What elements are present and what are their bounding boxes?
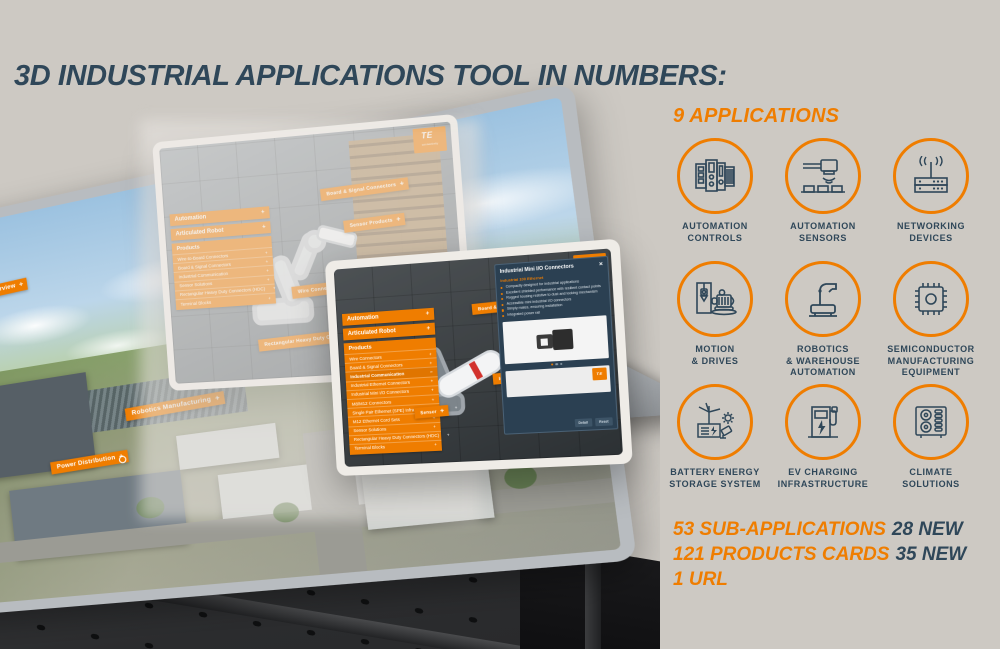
tablet-product-detail: TE connectivity Automation+ Articulated … bbox=[325, 239, 633, 477]
app-robotics-warehouse[interactable]: ROBOTICS & WAREHOUSE AUTOMATION bbox=[771, 261, 875, 380]
product-image-secondary: TE bbox=[506, 365, 611, 397]
stat-row: 121 PRODUCTS CARDS35 NEW bbox=[673, 542, 1000, 567]
stat-new: 28 NEW bbox=[892, 519, 963, 540]
tablet-products-menu[interactable]: Products Wire Connectors+ Board & Signal… bbox=[344, 338, 442, 455]
products-menu[interactable]: Products Wire-to-Board Connectors+ Board… bbox=[172, 236, 276, 310]
applications-icon-grid: AUTOMATION CONTROLS AUTOMATION SENSO bbox=[663, 138, 983, 503]
te-logo: TE connectivity bbox=[413, 126, 447, 153]
applications-heading: 9 APPLICATIONS bbox=[673, 105, 1000, 128]
product-panel-actions[interactable]: Detail Reset bbox=[574, 417, 613, 427]
app-label: AUTOMATION SENSORS bbox=[790, 221, 856, 257]
product-photo-scene: Overview Robotics Manufacturing Power Di… bbox=[0, 0, 660, 649]
app-networking-devices[interactable]: NETWORKING DEVICES bbox=[879, 138, 983, 257]
connector-icon bbox=[531, 324, 579, 355]
automation-controls-icon bbox=[693, 156, 737, 196]
app-motion-drives[interactable]: MOTION & DRIVES bbox=[663, 261, 767, 380]
icon-ring bbox=[785, 138, 861, 214]
stat-row: 1 URL bbox=[673, 567, 1000, 592]
stat-new: 35 NEW bbox=[895, 544, 966, 565]
detail-button[interactable]: Detail bbox=[574, 418, 592, 427]
app-label: ROBOTICS & WAREHOUSE AUTOMATION bbox=[786, 344, 860, 380]
automation-sensors-icon bbox=[801, 156, 845, 196]
icon-ring bbox=[785, 261, 861, 337]
motion-drives-icon bbox=[693, 279, 737, 319]
app-climate-solutions[interactable]: CLIMATE SOLUTIONS bbox=[879, 384, 983, 503]
icon-ring bbox=[677, 384, 753, 460]
stat-label: 1 URL bbox=[673, 569, 728, 590]
product-detail-panel[interactable]: Industrial Mini I/O Connectors ✕ Industr… bbox=[494, 256, 618, 435]
battery-energy-storage-icon bbox=[692, 402, 738, 442]
icon-ring bbox=[893, 138, 969, 214]
app-label: SEMICONDUCTOR MANUFACTURING EQUIPMENT bbox=[887, 344, 975, 380]
app-label: MOTION & DRIVES bbox=[692, 344, 739, 380]
app-semiconductor[interactable]: SEMICONDUCTOR MANUFACTURING EQUIPMENT bbox=[879, 261, 983, 380]
stats-panel: 9 APPLICATIONS AUTOMATION CONTROLS bbox=[655, 105, 1000, 625]
page-title: 3D INDUSTRIAL APPLICATIONS TOOL IN NUMBE… bbox=[14, 60, 727, 93]
semiconductor-chip-icon bbox=[909, 279, 953, 319]
reset-button[interactable]: Reset bbox=[595, 417, 613, 426]
climate-solutions-icon bbox=[909, 402, 953, 442]
app-label: AUTOMATION CONTROLS bbox=[682, 221, 748, 257]
robotics-warehouse-icon bbox=[801, 279, 845, 319]
stats-list: 53 SUB-APPLICATIONS28 NEW 121 PRODUCTS C… bbox=[673, 517, 1000, 592]
app-automation-sensors[interactable]: AUTOMATION SENSORS bbox=[771, 138, 875, 257]
networking-devices-icon bbox=[909, 156, 953, 196]
ev-charging-icon bbox=[801, 402, 845, 442]
product-image-main bbox=[503, 315, 609, 364]
app-label: BATTERY ENERGY STORAGE SYSTEM bbox=[669, 467, 761, 503]
icon-ring bbox=[677, 138, 753, 214]
app-label: NETWORKING DEVICES bbox=[897, 221, 965, 257]
app-ev-charging[interactable]: EV CHARGING INFRASTRUCTURE bbox=[771, 384, 875, 503]
app-label: CLIMATE SOLUTIONS bbox=[902, 467, 959, 503]
stat-label: 53 SUB-APPLICATIONS bbox=[673, 519, 886, 540]
icon-ring bbox=[785, 384, 861, 460]
app-automation-controls[interactable]: AUTOMATION CONTROLS bbox=[663, 138, 767, 257]
app-label: EV CHARGING INFRASTRUCTURE bbox=[778, 467, 869, 503]
stat-row: 53 SUB-APPLICATIONS28 NEW bbox=[673, 517, 1000, 542]
icon-ring bbox=[677, 261, 753, 337]
stat-label: 121 PRODUCTS CARDS bbox=[673, 544, 889, 565]
close-icon[interactable]: ✕ bbox=[599, 261, 604, 267]
app-battery-energy-storage[interactable]: BATTERY ENERGY STORAGE SYSTEM bbox=[663, 384, 767, 503]
icon-ring bbox=[893, 384, 969, 460]
icon-ring bbox=[893, 261, 969, 337]
